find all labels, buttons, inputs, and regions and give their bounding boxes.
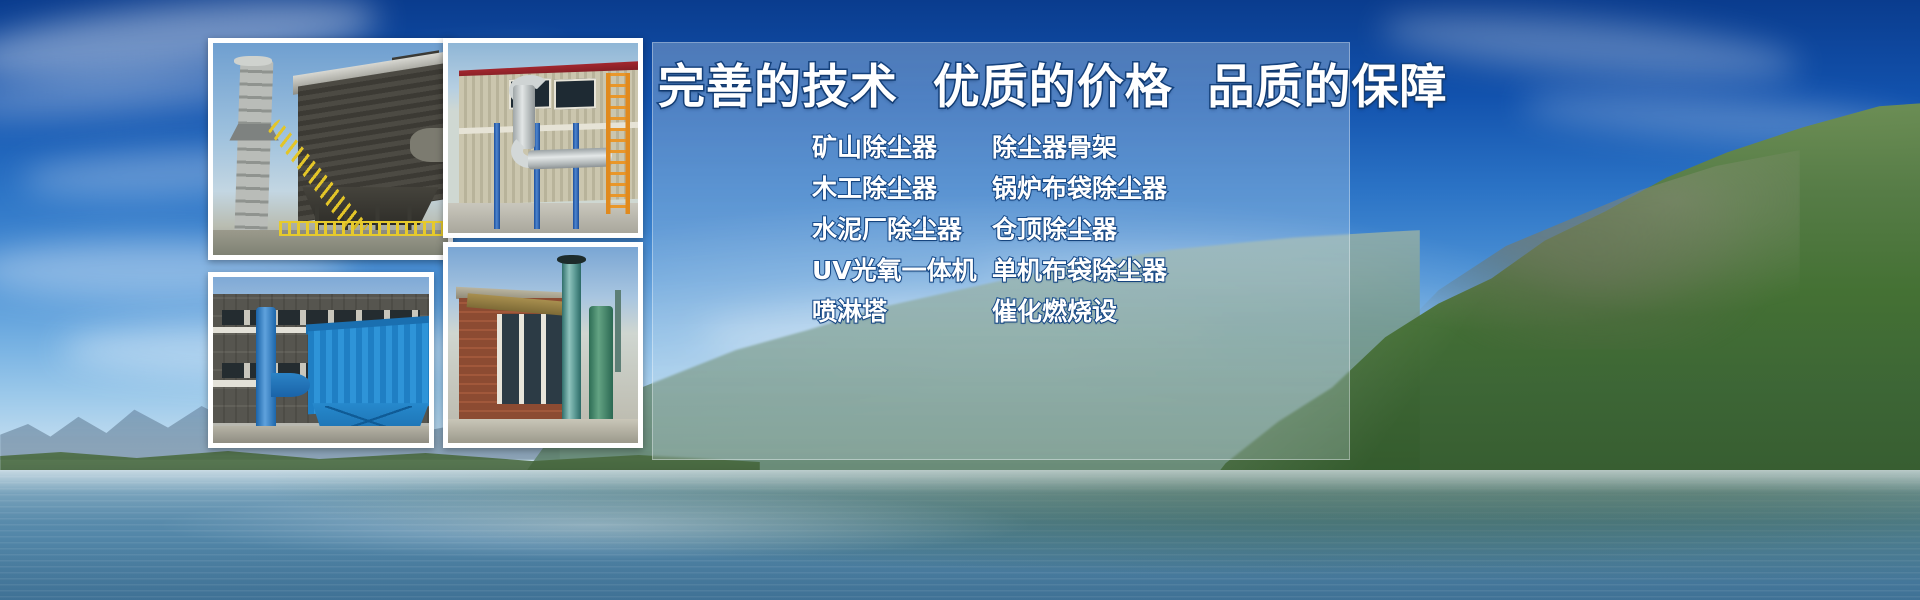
service-row: 矿山除尘器 除尘器骨架 [812,128,1352,169]
service-item-left[interactable]: 喷淋塔 [812,292,992,328]
photo-duct-workshop[interactable] [443,38,643,238]
photo-baghouse-stack[interactable] [208,38,453,260]
service-item-right[interactable]: 催化燃烧设 [992,292,1117,328]
service-item-left[interactable]: 木工除尘器 [812,169,992,205]
service-item-right[interactable]: 单机布袋除尘器 [992,251,1167,287]
photo-baghouse-stack-image [213,43,448,255]
banner-headline: 完善的技术 优质的价格 品质的保障 [658,60,1348,115]
water-sheen [154,490,1037,560]
service-item-right[interactable]: 仓顶除尘器 [992,210,1117,246]
service-row: 水泥厂除尘器 仓顶除尘器 [812,210,1352,251]
photo-blue-collector-image [213,277,429,443]
photo-brick-plant-stack-image [448,247,638,443]
service-item-right[interactable]: 除尘器骨架 [992,128,1117,164]
service-item-left[interactable]: 矿山除尘器 [812,128,992,164]
service-item-right[interactable]: 锅炉布袋除尘器 [992,169,1167,205]
photo-brick-plant-stack[interactable] [443,242,643,448]
service-row: 喷淋塔 催化燃烧设 [812,292,1352,333]
promotional-banner: 完善的技术 优质的价格 品质的保障 矿山除尘器 除尘器骨架 木工除尘器 锅炉布袋… [0,0,1920,600]
service-item-left[interactable]: UV光氧一体机 [812,251,992,287]
service-item-left[interactable]: 水泥厂除尘器 [812,210,992,246]
service-row: UV光氧一体机 单机布袋除尘器 [812,251,1352,292]
photo-duct-workshop-image [448,43,638,233]
photo-blue-collector[interactable] [208,272,434,448]
service-row: 木工除尘器 锅炉布袋除尘器 [812,169,1352,210]
service-list: 矿山除尘器 除尘器骨架 木工除尘器 锅炉布袋除尘器 水泥厂除尘器 仓顶除尘器 U… [812,128,1352,333]
